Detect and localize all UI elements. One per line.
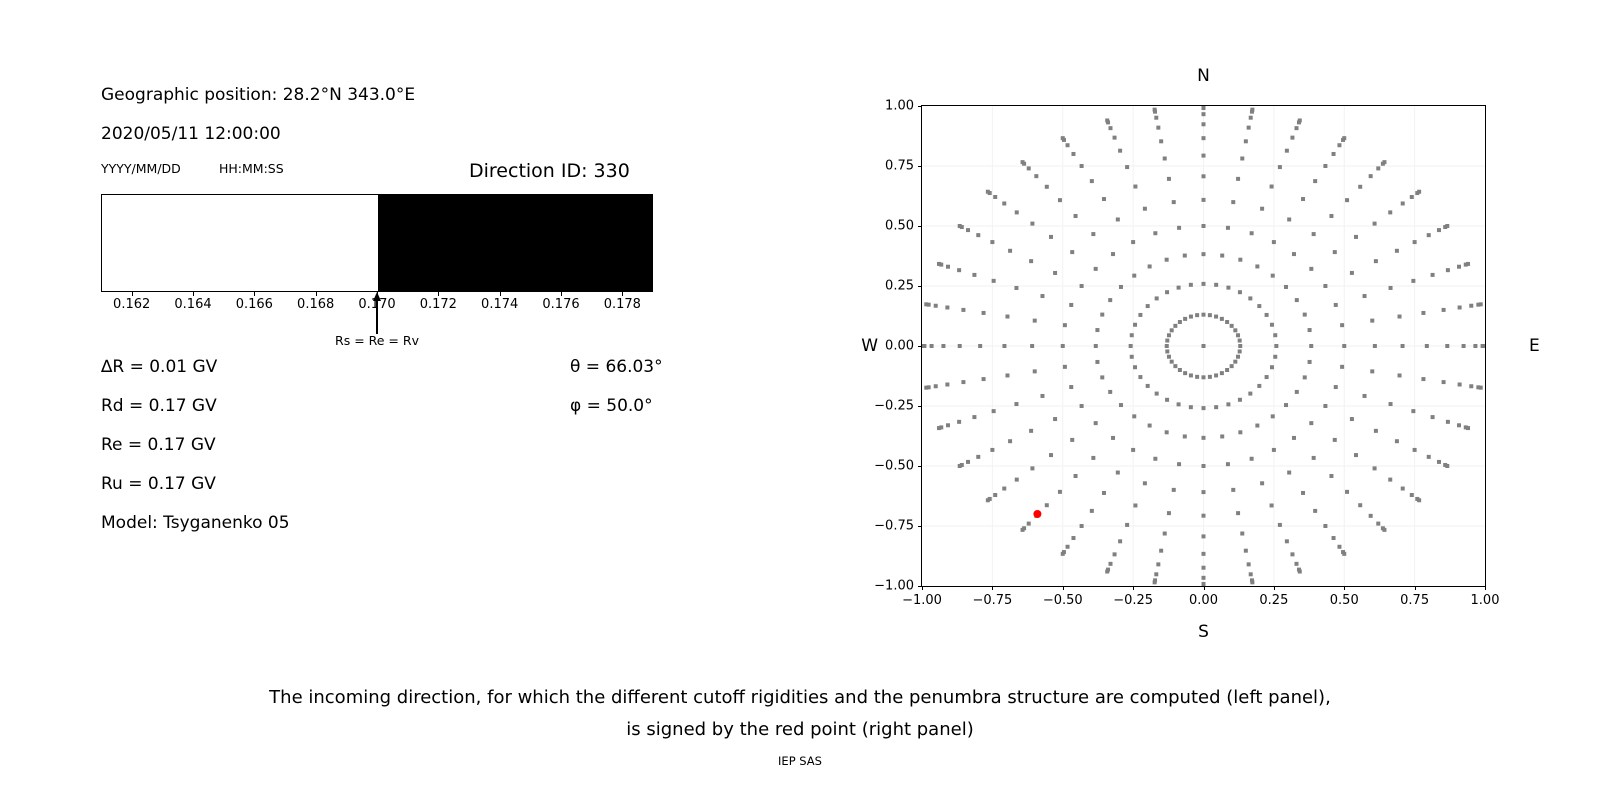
sky-y-tick-mark	[918, 286, 922, 287]
sky-x-tick-label: 1.00	[1471, 593, 1500, 608]
sky-x-tick-label: 0.25	[1259, 593, 1288, 608]
parameter-right-1: φ = 50.0°	[570, 396, 653, 416]
sky-y-tick-mark	[918, 166, 922, 167]
sky-y-tick-mark	[918, 406, 922, 407]
penumbra-tick-mark	[500, 292, 501, 296]
sky-y-tick-mark	[918, 466, 922, 467]
sky-x-tick-label: −0.50	[1043, 593, 1083, 608]
parameter-left-2: Re = 0.17 GV	[101, 435, 216, 455]
penumbra-tick-label: 0.170	[358, 297, 395, 312]
sky-x-tick-mark	[1415, 586, 1416, 590]
penumbra-bar	[101, 194, 653, 292]
penumbra-tick-label: 0.168	[297, 297, 334, 312]
selected-direction-point[interactable]	[1033, 510, 1041, 518]
sky-x-tick-mark	[992, 586, 993, 590]
penumbra-tick-mark	[377, 292, 378, 296]
parameter-left-3: Ru = 0.17 GV	[101, 474, 216, 494]
sky-y-tick-mark	[918, 586, 922, 587]
parameter-left-0: ∆R = 0.01 GV	[101, 357, 217, 377]
direction-id-label: Direction ID: 330	[469, 160, 630, 182]
time-format-hint: HH:MM:SS	[219, 161, 284, 176]
compass-label-north: N	[1197, 66, 1210, 86]
sky-direction-plot: N S W E −1.00−0.75−0.50−0.250.000.250.50…	[921, 105, 1486, 587]
sky-scatter-svg	[922, 106, 1485, 586]
sky-x-tick-label: 0.75	[1400, 593, 1429, 608]
parameter-left-4: Model: Tsyganenko 05	[101, 513, 290, 533]
sky-x-tick-mark	[1204, 586, 1205, 590]
penumbra-tick-label: 0.166	[236, 297, 273, 312]
penumbra-tick-mark	[132, 292, 133, 296]
compass-label-east: E	[1529, 336, 1540, 356]
parameter-right-0: θ = 66.03°	[570, 357, 663, 377]
sky-y-tick-label: 0.75	[885, 159, 914, 174]
sky-x-tick-mark	[922, 586, 923, 590]
sky-y-tick-label: 1.00	[885, 99, 914, 114]
figure-caption: The incoming direction, for which the di…	[0, 682, 1600, 746]
sky-y-tick-label: −0.25	[874, 399, 914, 414]
compass-label-west: W	[861, 336, 878, 356]
sky-y-tick-label: 0.00	[885, 339, 914, 354]
penumbra-tick-label: 0.172	[420, 297, 457, 312]
datetime-label: 2020/05/11 12:00:00	[101, 124, 281, 144]
penumbra-tick-label: 0.162	[113, 297, 150, 312]
sky-x-tick-label: −1.00	[902, 593, 942, 608]
penumbra-tick-mark	[254, 292, 255, 296]
penumbra-tick-mark	[316, 292, 317, 296]
penumbra-forbidden-band	[378, 195, 653, 291]
left-panel: Geographic position: 28.2°N 343.0°E 2020…	[0, 0, 760, 660]
sky-x-tick-mark	[1485, 586, 1486, 590]
compass-label-south: S	[1198, 622, 1209, 642]
penumbra-tick-label: 0.164	[174, 297, 211, 312]
geographic-position-label: Geographic position: 28.2°N 343.0°E	[101, 85, 415, 105]
caption-line-2: is signed by the red point (right panel)	[0, 714, 1600, 746]
sky-y-tick-label: 0.50	[885, 219, 914, 234]
sky-x-tick-label: 0.50	[1330, 593, 1359, 608]
parameter-left-1: Rd = 0.17 GV	[101, 396, 217, 416]
footer-credit: IEP SAS	[0, 754, 1600, 768]
caption-line-1: The incoming direction, for which the di…	[0, 682, 1600, 714]
sky-y-tick-mark	[918, 226, 922, 227]
sky-y-tick-label: 0.25	[885, 279, 914, 294]
sky-x-tick-label: 0.00	[1189, 593, 1218, 608]
sky-y-tick-mark	[918, 106, 922, 107]
penumbra-tick-mark	[622, 292, 623, 296]
sky-x-tick-label: −0.25	[1113, 593, 1153, 608]
penumbra-tick-mark	[438, 292, 439, 296]
sky-x-tick-mark	[1063, 586, 1064, 590]
sky-y-tick-label: −0.75	[874, 519, 914, 534]
penumbra-bar-figure	[101, 194, 653, 292]
right-panel: N S W E −1.00−0.75−0.50−0.250.000.250.50…	[780, 0, 1600, 660]
sky-y-tick-mark	[918, 526, 922, 527]
sky-y-tick-label: −0.50	[874, 459, 914, 474]
penumbra-tick-label: 0.174	[481, 297, 518, 312]
sky-x-tick-mark	[1133, 586, 1134, 590]
penumbra-x-axis: 0.1620.1640.1660.1680.1700.1720.1740.176…	[101, 292, 653, 338]
sky-x-tick-mark	[1274, 586, 1275, 590]
penumbra-tick-mark	[561, 292, 562, 296]
penumbra-allowed-band	[102, 195, 378, 291]
penumbra-tick-label: 0.176	[542, 297, 579, 312]
sky-y-tick-mark	[918, 346, 922, 347]
sky-x-tick-label: −0.75	[972, 593, 1012, 608]
sky-x-tick-mark	[1344, 586, 1345, 590]
penumbra-tick-label: 0.178	[604, 297, 641, 312]
penumbra-tick-mark	[193, 292, 194, 296]
date-format-hint: YYYY/MM/DD	[101, 161, 181, 176]
sky-y-tick-label: −1.00	[874, 579, 914, 594]
